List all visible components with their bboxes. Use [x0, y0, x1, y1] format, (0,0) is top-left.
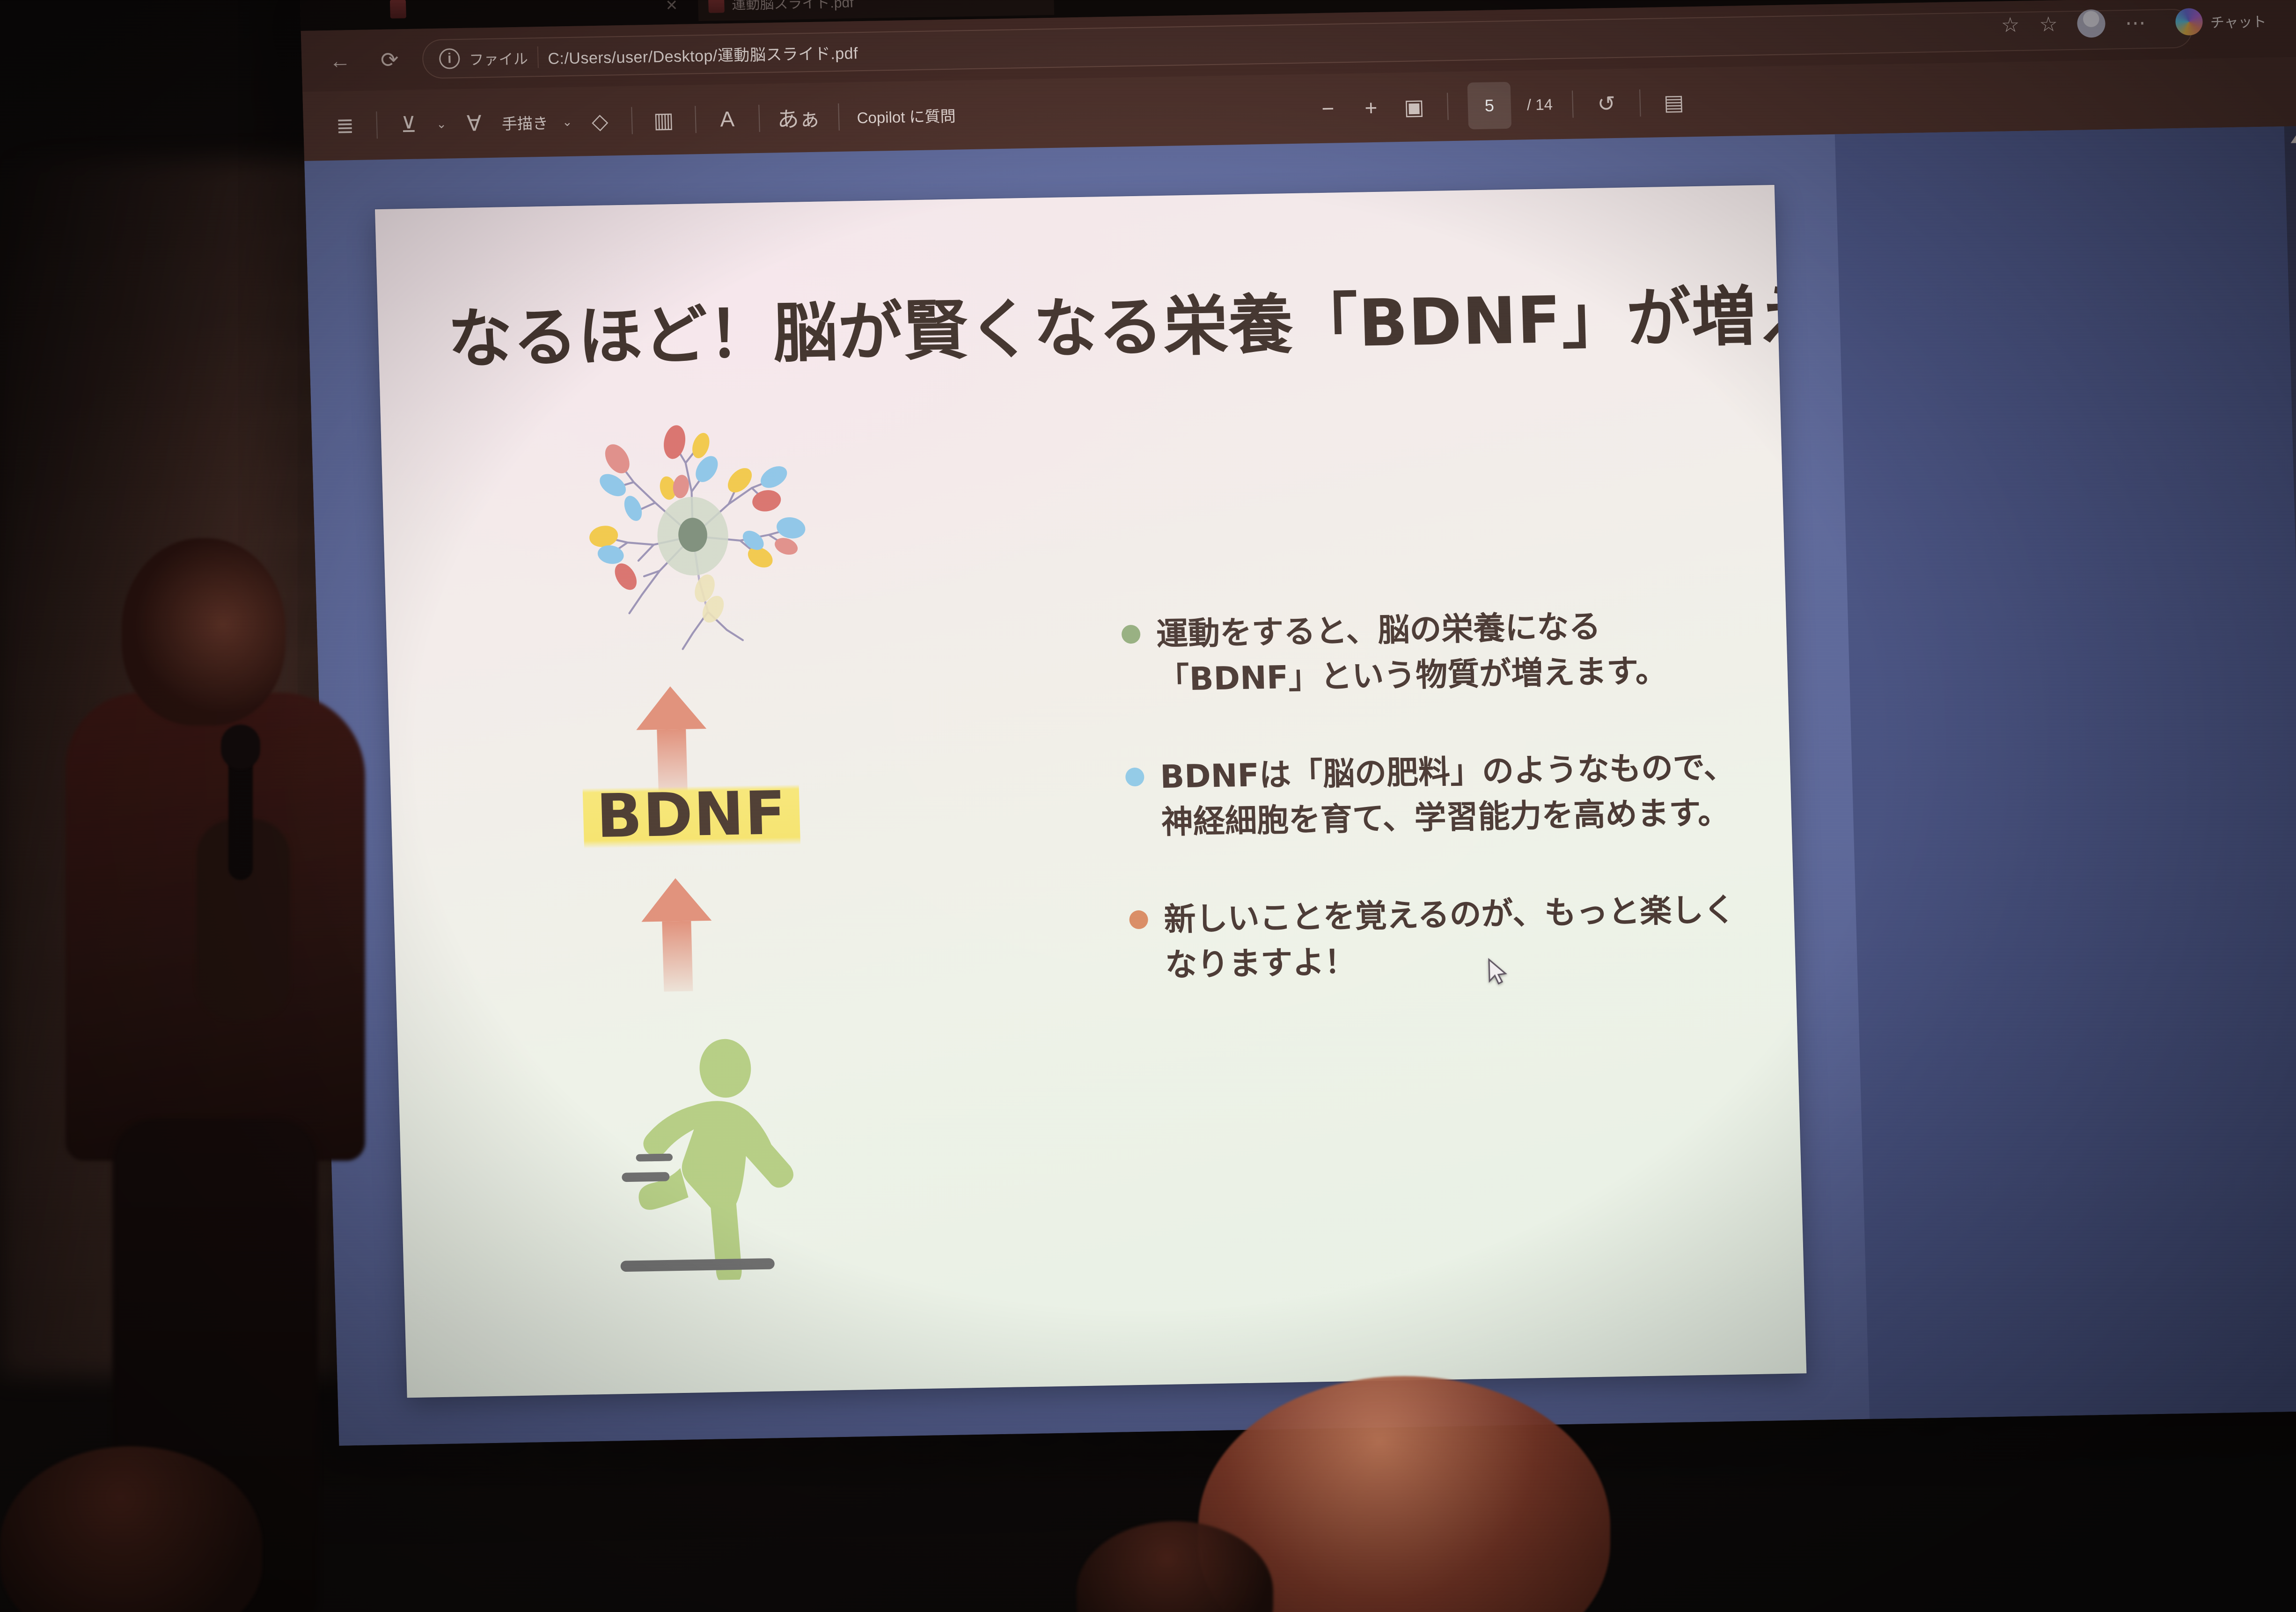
divider [1639, 89, 1641, 117]
presenter-head [122, 538, 286, 725]
bullet-item-3: 新しいことを覚えるのが、もっと楽しく なりますよ！ [1129, 887, 1758, 989]
table-of-contents-icon[interactable]: ≣ [331, 108, 359, 143]
collections-icon[interactable]: ☆ [2039, 12, 2058, 37]
bullet-2-text: BDNFは「脳の肥料」のようなもので、 神経細胞を育て、学習能力を高めます。 [1159, 745, 1737, 845]
pdf-page: なるほど！脳が賢くなる栄養「BDNF」が増える [375, 185, 1806, 1398]
divider [758, 105, 760, 132]
bullet-1-text: 運動をすると、脳の栄養になる 「BDNF」という物質が増えます。 [1156, 603, 1668, 703]
presentation-photo: ✕ 運動脳スライド.pdf ← ⟳ i ファイル C:/Users/user/D… [0, 0, 2296, 1612]
generic-tab-icon [390, 0, 406, 19]
copilot-icon [2175, 8, 2203, 36]
bullet-dot-orange [1129, 910, 1148, 930]
bullet-3-line-2: なりますよ！ [1165, 933, 1737, 988]
bullet-1-line-1: 運動をすると、脳の栄養になる [1156, 603, 1666, 658]
divider [631, 107, 633, 134]
chevron-down-icon[interactable]: ⌄ [436, 117, 447, 131]
fit-page-icon[interactable]: ▣ [1400, 89, 1428, 125]
file-scheme-label: ファイル [469, 47, 528, 69]
bullet-1-line-2: 「BDNF」という物質が増えます。 [1157, 649, 1667, 703]
audience-head-shape-left [0, 1446, 262, 1612]
page-total-label: / 14 [1526, 95, 1553, 114]
slide-title: なるほど！脳が賢くなる栄養「BDNF」が増える [446, 264, 1722, 380]
audience-head-left [0, 1446, 262, 1612]
projection-screen: ✕ 運動脳スライド.pdf ← ⟳ i ファイル C:/Users/user/D… [300, 0, 2296, 1446]
bdnf-label: BDNF [582, 776, 801, 855]
address-bar-url: C:/Users/user/Desktop/運動脳スライド.pdf [548, 40, 858, 69]
draw-tool-label[interactable]: 手描き [501, 111, 548, 134]
text-style-icon[interactable]: あぁ [777, 100, 821, 136]
pdf-page-controls: − + ▣ 5 / 14 ↺ ▤ [1313, 67, 1688, 143]
close-icon[interactable]: ✕ [665, 0, 678, 14]
edge-browser-window: ✕ 運動脳スライド.pdf ← ⟳ i ファイル C:/Users/user/D… [300, 0, 2296, 1446]
bullet-2-line-2: 神経細胞を育て、学習能力を高めます。 [1161, 790, 1737, 845]
divider [1572, 91, 1574, 118]
mouse-cursor [1486, 957, 1509, 987]
chevron-down-icon-2[interactable]: ⌄ [562, 114, 572, 129]
back-icon[interactable]: ← [323, 44, 357, 78]
zoom-out-button[interactable]: − [1314, 91, 1342, 126]
copilot-chat-label: チャット [2210, 10, 2267, 32]
bdnf-graphic-column: BDNF [516, 402, 897, 1321]
read-aloud-icon[interactable]: A [713, 102, 741, 137]
divider [1447, 93, 1449, 120]
divider [537, 46, 539, 68]
site-info-icon[interactable]: i [439, 48, 460, 69]
page-layout-icon[interactable]: ▤ [1660, 85, 1688, 120]
avatar[interactable] [2077, 9, 2106, 38]
divider [376, 111, 378, 139]
eraser-icon[interactable]: ◇ [586, 103, 614, 139]
zoom-in-button[interactable]: + [1357, 90, 1385, 125]
slide-bullet-list: 運動をすると、脳の栄養になる 「BDNF」という物質が増えます。 BDNFは「脳… [1121, 602, 1760, 1041]
text-highlight-icon[interactable]: ∀ [460, 106, 488, 141]
reload-icon[interactable]: ⟳ [372, 43, 407, 77]
viewer-right-pane [1835, 126, 2296, 1419]
divider [838, 103, 840, 131]
copilot-ask-button[interactable]: Copilot に質問 [857, 104, 956, 128]
copilot-chat-button[interactable]: チャット [2165, 3, 2277, 39]
bullet-3-text: 新しいことを覚えるのが、もっと楽しく なりますよ！ [1163, 888, 1737, 988]
browser-tab-2[interactable]: 運動脳スライド.pdf [697, 0, 1054, 21]
bullet-dot-blue [1125, 768, 1144, 787]
browser-tab-1[interactable] [379, 0, 642, 27]
microphone-head [221, 725, 260, 769]
running-person-icon [603, 1035, 830, 1282]
bullet-item-2: BDNFは「脳の肥料」のようなもので、 神経細胞を育て、学習能力を高めます。 [1125, 745, 1754, 846]
pdf-viewer-canvas: なるほど！脳が賢くなる栄養「BDNF」が増える [304, 126, 2296, 1446]
more-options-icon[interactable]: ⋯ [2125, 11, 2146, 35]
audience-head-shape-left-2 [1077, 1521, 1273, 1612]
page-number-input[interactable]: 5 [1467, 82, 1511, 130]
scroll-up-arrow-icon[interactable] [2290, 134, 2296, 143]
neuron-illustration [558, 403, 828, 670]
bullet-dot-green [1122, 625, 1141, 644]
divider [695, 106, 697, 133]
bullet-item-1: 運動をすると、脳の栄養になる 「BDNF」という物質が増えます。 [1121, 602, 1751, 703]
two-page-view-icon[interactable]: ▥ [650, 103, 678, 138]
rotate-icon[interactable]: ↺ [1592, 86, 1621, 121]
audience-head-left-2 [1077, 1521, 1273, 1612]
favorite-star-icon[interactable]: ☆ [2001, 13, 2020, 37]
arrow-up-runner [640, 878, 714, 992]
pdf-file-icon [708, 0, 725, 13]
tab-2-label: 運動脳スライド.pdf [732, 0, 854, 14]
browser-right-actions: ☆ ☆ ⋯ チャット [2001, 3, 2277, 42]
highlight-icon[interactable]: ⊻ [395, 107, 423, 142]
